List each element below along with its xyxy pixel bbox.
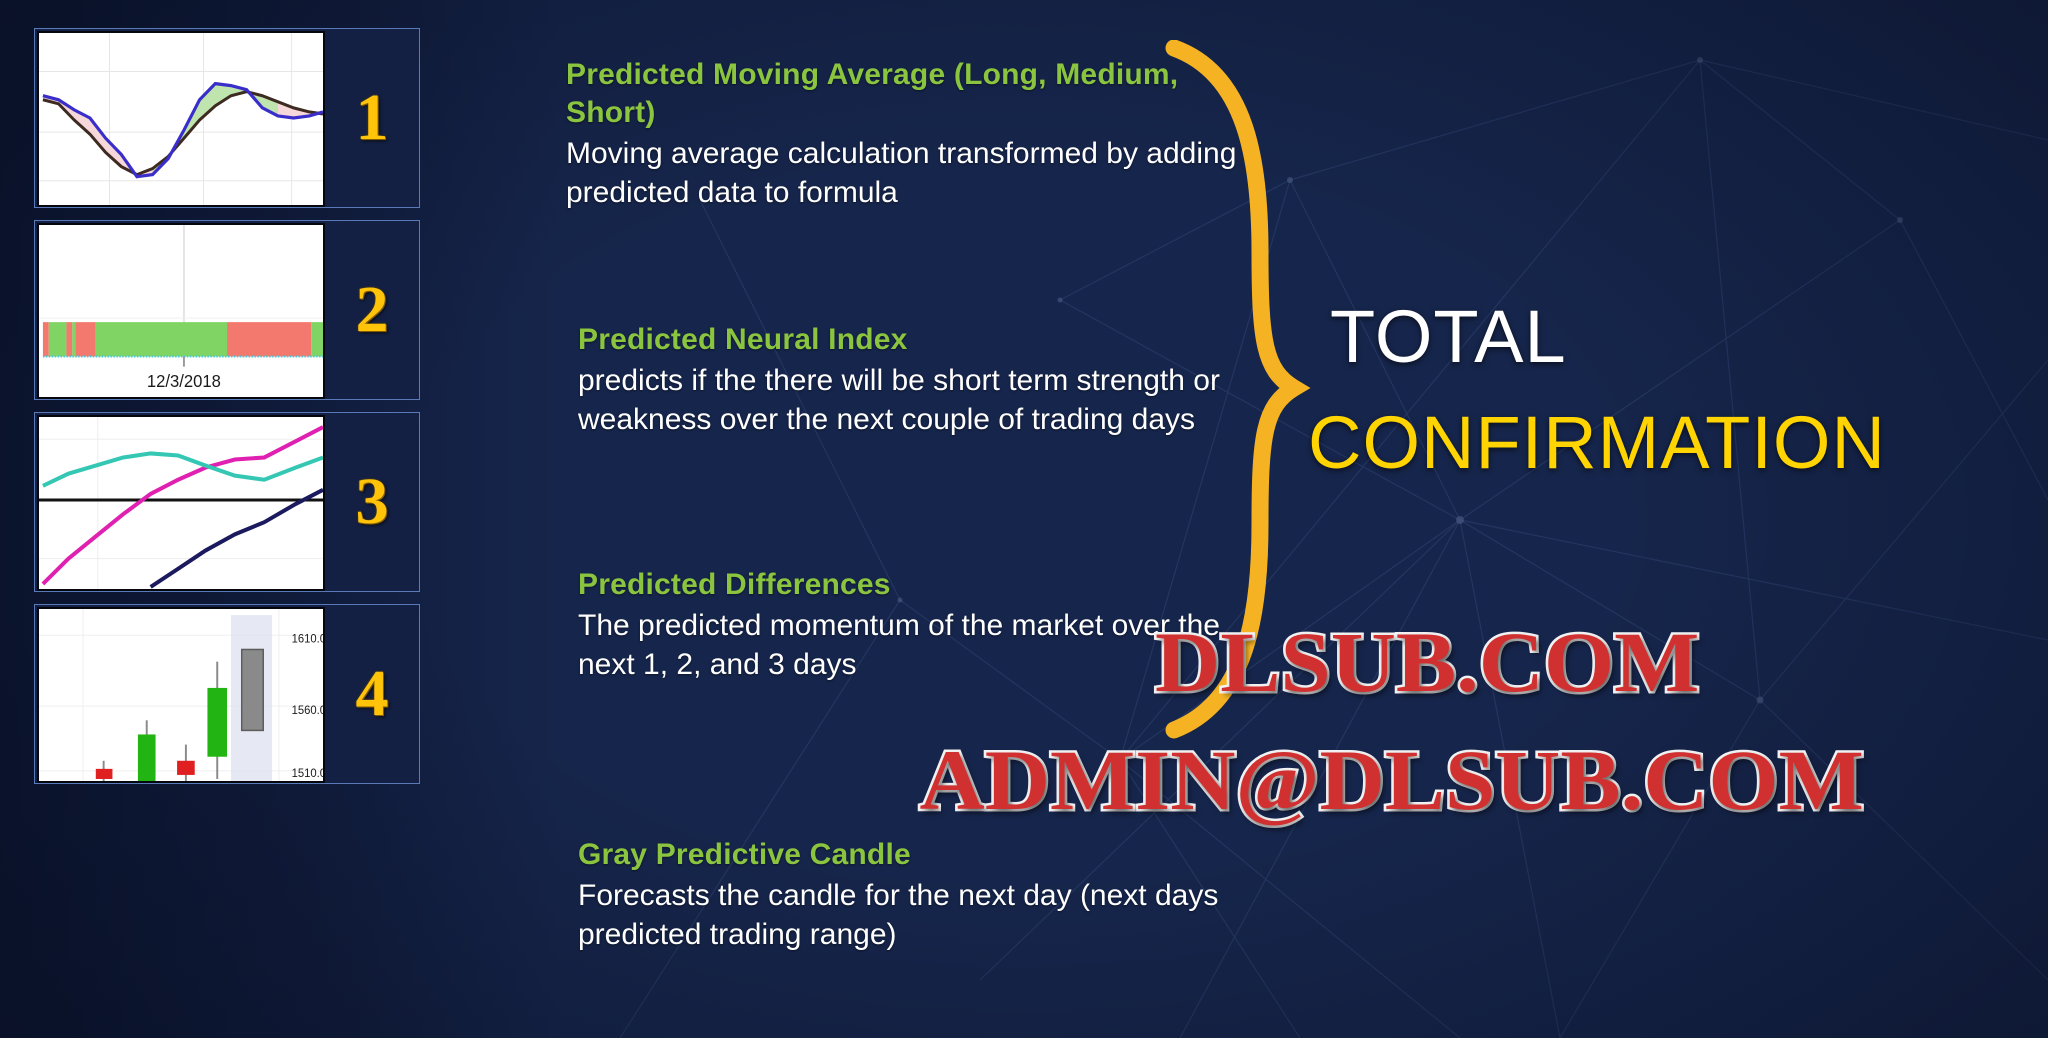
chart-thumbnail-column: 1	[34, 28, 420, 796]
total-confirmation-callout: TOTAL CONFIRMATION	[1330, 300, 2030, 480]
feature-body-4: Forecasts the candle for the next day (n…	[578, 876, 1276, 954]
chart-card-2[interactable]: 12/3/2018 2	[34, 220, 420, 400]
chart-2-date-label: 12/3/2018	[147, 372, 221, 391]
feature-heading-4: Gray Predictive Candle	[578, 836, 1276, 874]
chart-4-price-label-2: 1560.00	[292, 705, 323, 717]
chart-plot-2: 12/3/2018	[35, 221, 325, 399]
callout-line-2: CONFIRMATION	[1308, 406, 2030, 480]
chart-card-3[interactable]: 3	[34, 412, 420, 592]
watermark-email-text: ADMIN@DLSUB.COM	[920, 730, 1864, 830]
callout-line-1: TOTAL	[1330, 300, 2030, 374]
chart-plot-3	[35, 413, 325, 591]
step-number-label: 2	[356, 277, 389, 343]
chart-4-price-label-3: 1510.00	[292, 768, 323, 780]
chart-card-4[interactable]: 1610.00 1560.00 1510.00 4	[34, 604, 420, 784]
chart-4-price-label-1: 1610.00	[292, 633, 323, 645]
chart-card-1[interactable]: 1	[34, 28, 420, 208]
chart-plot-1	[35, 29, 325, 207]
chart-plot-4: 1610.00 1560.00 1510.00	[35, 605, 325, 783]
step-number-4: 4	[325, 605, 419, 783]
step-number-label: 1	[356, 85, 389, 151]
step-number-2: 2	[325, 221, 419, 399]
step-number-label: 3	[356, 469, 389, 535]
watermark-site-text: DLSUB.COM	[1155, 612, 1699, 712]
feature-item-4: Gray Predictive Candle Forecasts the can…	[578, 836, 1276, 954]
step-number-label: 4	[356, 661, 389, 727]
watermark-email: ADMIN@DLSUB.COM	[942, 730, 1841, 830]
step-number-1: 1	[325, 29, 419, 207]
step-number-3: 3	[325, 413, 419, 591]
watermark-site: DLSUB.COM	[1168, 612, 1686, 712]
